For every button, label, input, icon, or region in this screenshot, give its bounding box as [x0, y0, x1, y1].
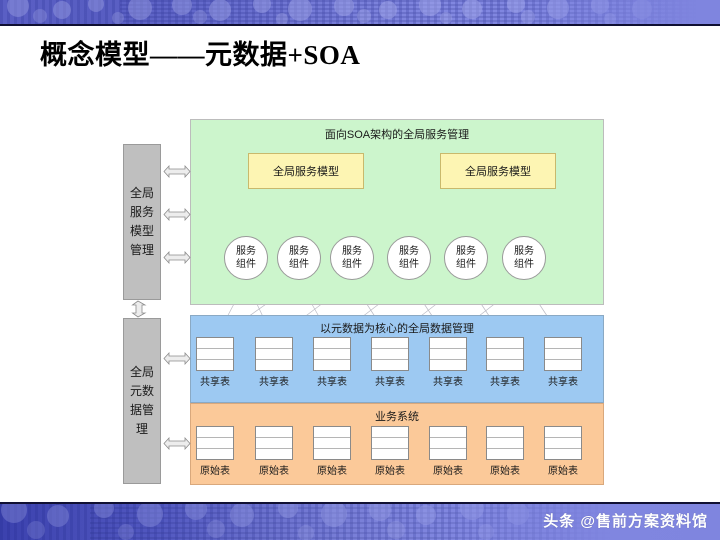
double-arrow-icon-2 [163, 208, 191, 221]
service-component-4[interactable]: 服务 组件 [387, 236, 431, 280]
raw-table-1-label: 原始表 [192, 462, 238, 477]
service-component-2[interactable]: 服务 组件 [277, 236, 321, 280]
shared-table-1[interactable] [196, 337, 234, 371]
raw-table-2-label: 原始表 [251, 462, 297, 477]
shared-table-4-label: 共享表 [367, 373, 413, 388]
raw-table-3-label: 原始表 [309, 462, 355, 477]
global-service-model-left[interactable]: 全局服务模型 [248, 153, 364, 189]
service-component-1-line1: 服务 [236, 245, 256, 258]
service-component-1[interactable]: 服务 组件 [224, 236, 268, 280]
global-service-model-left-label: 全局服务模型 [273, 163, 339, 179]
raw-table-7[interactable] [544, 426, 582, 460]
shared-table-5-label: 共享表 [425, 373, 471, 388]
shared-table-6-label: 共享表 [482, 373, 528, 388]
metadata-management-box[interactable]: 全局元数据管理 [123, 318, 161, 484]
service-model-management-label: 全局服务模型管理 [127, 184, 157, 260]
shared-table-7[interactable] [544, 337, 582, 371]
double-arrow-icon-4 [163, 352, 191, 365]
shared-table-1-label: 共享表 [192, 373, 238, 388]
service-component-2-line2: 组件 [289, 258, 309, 271]
metadata-management-label: 全局元数据管理 [127, 363, 157, 439]
raw-table-5[interactable] [429, 426, 467, 460]
service-component-1-line2: 组件 [236, 258, 256, 271]
service-component-6-line1: 服务 [514, 245, 534, 258]
service-component-5-line1: 服务 [456, 245, 476, 258]
double-arrow-icon-3 [163, 251, 191, 264]
shared-table-2[interactable] [255, 337, 293, 371]
service-model-management-box[interactable]: 全局服务模型管理 [123, 144, 161, 300]
raw-table-4-label: 原始表 [367, 462, 413, 477]
service-component-5-line2: 组件 [456, 258, 476, 271]
raw-table-3[interactable] [313, 426, 351, 460]
shared-table-7-label: 共享表 [540, 373, 586, 388]
service-component-3-line2: 组件 [342, 258, 362, 271]
slide-canvas: 概念模型——元数据+SOA [0, 0, 720, 540]
shared-table-4[interactable] [371, 337, 409, 371]
banner-divider-bottom [0, 502, 720, 504]
double-arrow-icon-5 [163, 437, 191, 450]
shared-table-2-label: 共享表 [251, 373, 297, 388]
service-component-3-line1: 服务 [342, 245, 362, 258]
raw-table-1[interactable] [196, 426, 234, 460]
service-component-6[interactable]: 服务 组件 [502, 236, 546, 280]
shared-table-3[interactable] [313, 337, 351, 371]
panel-soa-title: 面向SOA架构的全局服务管理 [191, 126, 603, 142]
shared-table-6[interactable] [486, 337, 524, 371]
diagram: 面向SOA架构的全局服务管理 全局服务模型 全局服务模型 服务 组件 服务 组件… [0, 0, 720, 540]
service-component-2-line1: 服务 [289, 245, 309, 258]
watermark-text: 头条 @售前方案资料馆 [543, 510, 708, 531]
shared-table-5[interactable] [429, 337, 467, 371]
panel-business-title: 业务系统 [191, 408, 603, 424]
shared-table-3-label: 共享表 [309, 373, 355, 388]
service-component-5[interactable]: 服务 组件 [444, 236, 488, 280]
service-component-4-line1: 服务 [399, 245, 419, 258]
vertical-double-arrow-icon [131, 300, 147, 318]
global-service-model-right[interactable]: 全局服务模型 [440, 153, 556, 189]
bottom-banner: 头条 @售前方案资料馆 [0, 502, 720, 540]
service-component-3[interactable]: 服务 组件 [330, 236, 374, 280]
raw-table-6[interactable] [486, 426, 524, 460]
raw-table-5-label: 原始表 [425, 462, 471, 477]
raw-table-6-label: 原始表 [482, 462, 528, 477]
raw-table-7-label: 原始表 [540, 462, 586, 477]
raw-table-2[interactable] [255, 426, 293, 460]
raw-table-4[interactable] [371, 426, 409, 460]
global-service-model-right-label: 全局服务模型 [465, 163, 531, 179]
service-component-4-line2: 组件 [399, 258, 419, 271]
double-arrow-icon-1 [163, 165, 191, 178]
panel-metadata-title: 以元数据为核心的全局数据管理 [191, 320, 603, 336]
service-component-6-line2: 组件 [514, 258, 534, 271]
